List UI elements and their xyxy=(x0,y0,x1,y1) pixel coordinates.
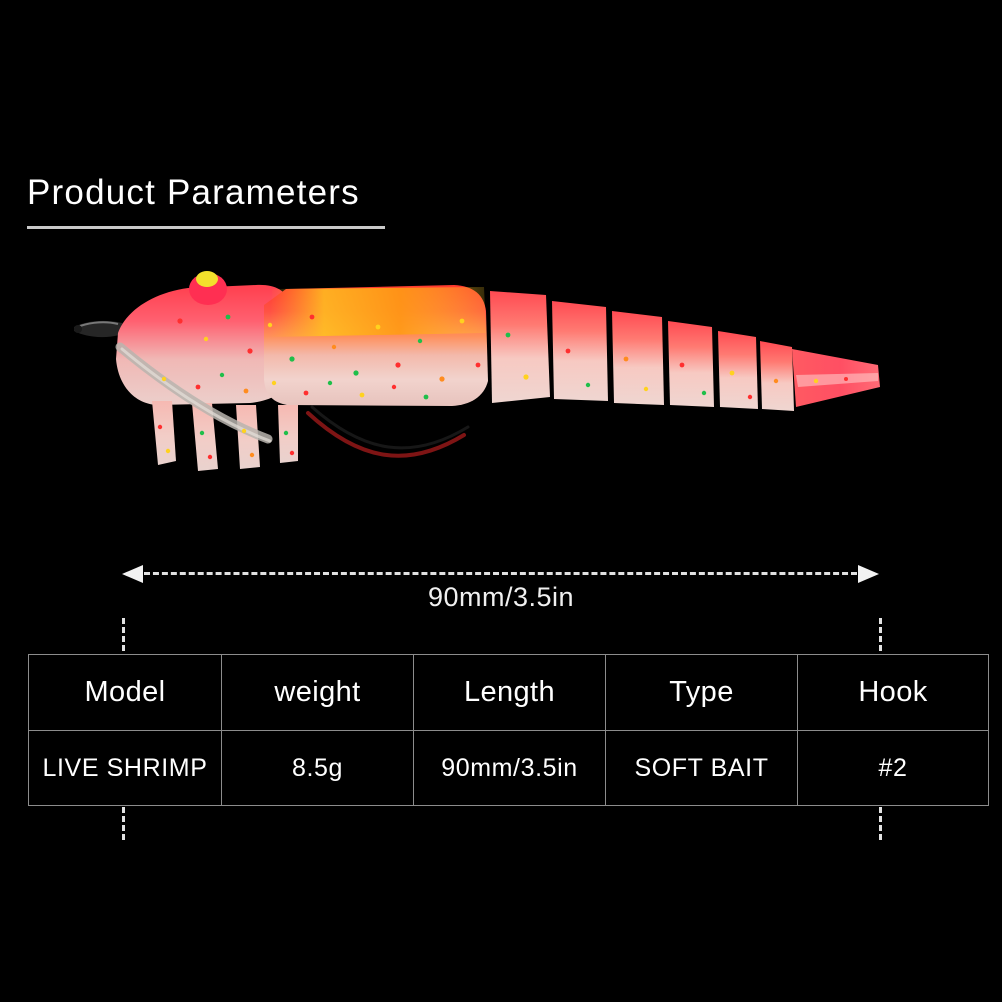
column-header-model: Model xyxy=(29,655,222,731)
tail-segments xyxy=(490,291,794,411)
lure-eye xyxy=(189,271,227,305)
page-title-block: Product Parameters xyxy=(27,172,447,214)
lure-legs xyxy=(152,401,298,471)
page-title: Product Parameters xyxy=(27,172,447,214)
column-header-hook: Hook xyxy=(798,655,989,731)
cell-length: 90mm/3.5in xyxy=(414,731,606,806)
table-row: LIVE SHRIMP 8.5g 90mm/3.5in SOFT BAIT #2 xyxy=(29,731,989,806)
column-header-weight: weight xyxy=(222,655,414,731)
column-header-length: Length xyxy=(414,655,606,731)
product-parameters-page: Product Parameters xyxy=(0,0,1002,1002)
dimension-arrow xyxy=(122,565,879,583)
table-header-row: Model weight Length Type Hook xyxy=(29,655,989,731)
dorsal-stripe xyxy=(270,287,486,337)
product-image-figure xyxy=(0,255,1002,615)
spec-table: Model weight Length Type Hook LIVE SHRIM… xyxy=(28,654,989,806)
arrow-right-icon xyxy=(858,565,879,583)
dimension-label: 90mm/3.5in xyxy=(0,582,1002,613)
arrow-left-icon xyxy=(122,565,143,583)
cell-model: LIVE SHRIMP xyxy=(29,731,222,806)
cell-type: SOFT BAIT xyxy=(606,731,798,806)
shrimp-lure-illustration xyxy=(60,255,920,515)
cell-hook: #2 xyxy=(798,731,989,806)
hook-wire xyxy=(308,407,468,456)
column-header-type: Type xyxy=(606,655,798,731)
dimension-arrow-shaft xyxy=(144,572,857,575)
cell-weight: 8.5g xyxy=(222,731,414,806)
title-underline xyxy=(27,226,385,229)
